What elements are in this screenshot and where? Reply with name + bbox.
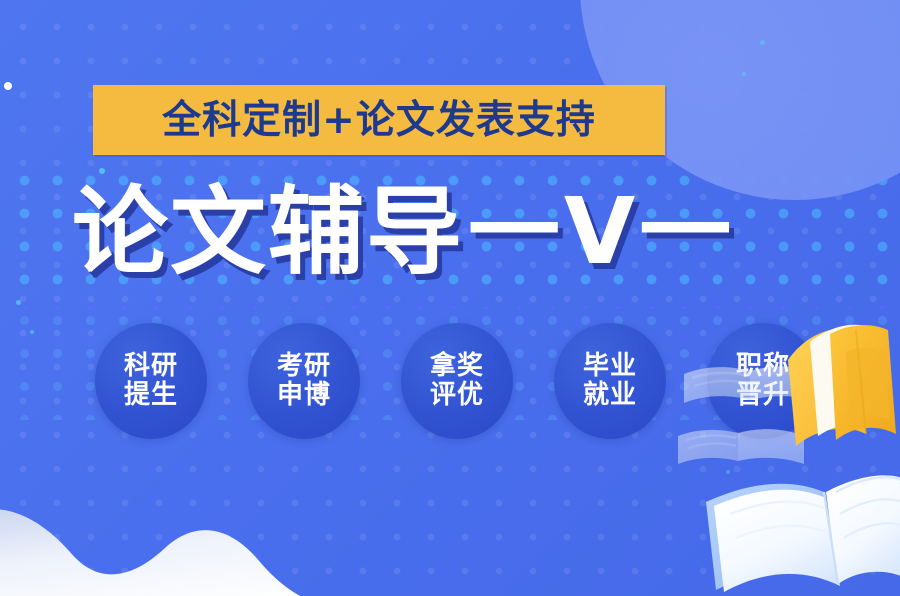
badge-line-1: 考研 — [277, 352, 331, 381]
cyan-dot-decoration — [742, 72, 746, 76]
cyan-dot-decoration — [16, 300, 21, 305]
cyan-dot-decoration — [760, 40, 765, 45]
poster-canvas: 全科定制+论文发表支持 论文辅导 一V一 科研 提生 考研 申博 拿奖 评优 毕… — [0, 0, 900, 596]
page-title-tail: 一V一 — [468, 186, 735, 278]
open-books-illustration — [670, 316, 900, 596]
page-title: 论文辅导 一V一 — [72, 176, 862, 288]
badge-line-2: 就业 — [583, 381, 637, 410]
cyan-dot-decoration — [99, 168, 105, 174]
book-ghost-lower — [678, 429, 804, 464]
white-dot-decoration — [4, 82, 12, 90]
banner-text: 全科定制+论文发表支持 — [162, 101, 596, 140]
badge-kaoyan-shenbo[interactable]: 考研 申博 — [248, 323, 360, 439]
book-white-front — [706, 475, 900, 592]
page-title-main: 论文辅导 — [72, 184, 464, 280]
badge-line-2: 评优 — [430, 381, 484, 410]
badge-line-2: 提生 — [124, 381, 178, 410]
badge-line-2: 申博 — [277, 381, 331, 410]
white-wave-decoration — [0, 466, 320, 596]
badge-biye-jiuye[interactable]: 毕业 就业 — [554, 323, 666, 439]
headline-banner: 全科定制+论文发表支持 — [93, 85, 665, 155]
badge-line-1: 毕业 — [583, 352, 637, 381]
badge-line-1: 拿奖 — [430, 352, 484, 381]
badge-line-1: 科研 — [124, 352, 178, 381]
badge-keyan-tisheng[interactable]: 科研 提生 — [95, 323, 207, 439]
badge-najiang-pingyou[interactable]: 拿奖 评优 — [401, 323, 513, 439]
cyan-dot-decoration — [30, 330, 34, 334]
book-yellow — [788, 325, 896, 446]
